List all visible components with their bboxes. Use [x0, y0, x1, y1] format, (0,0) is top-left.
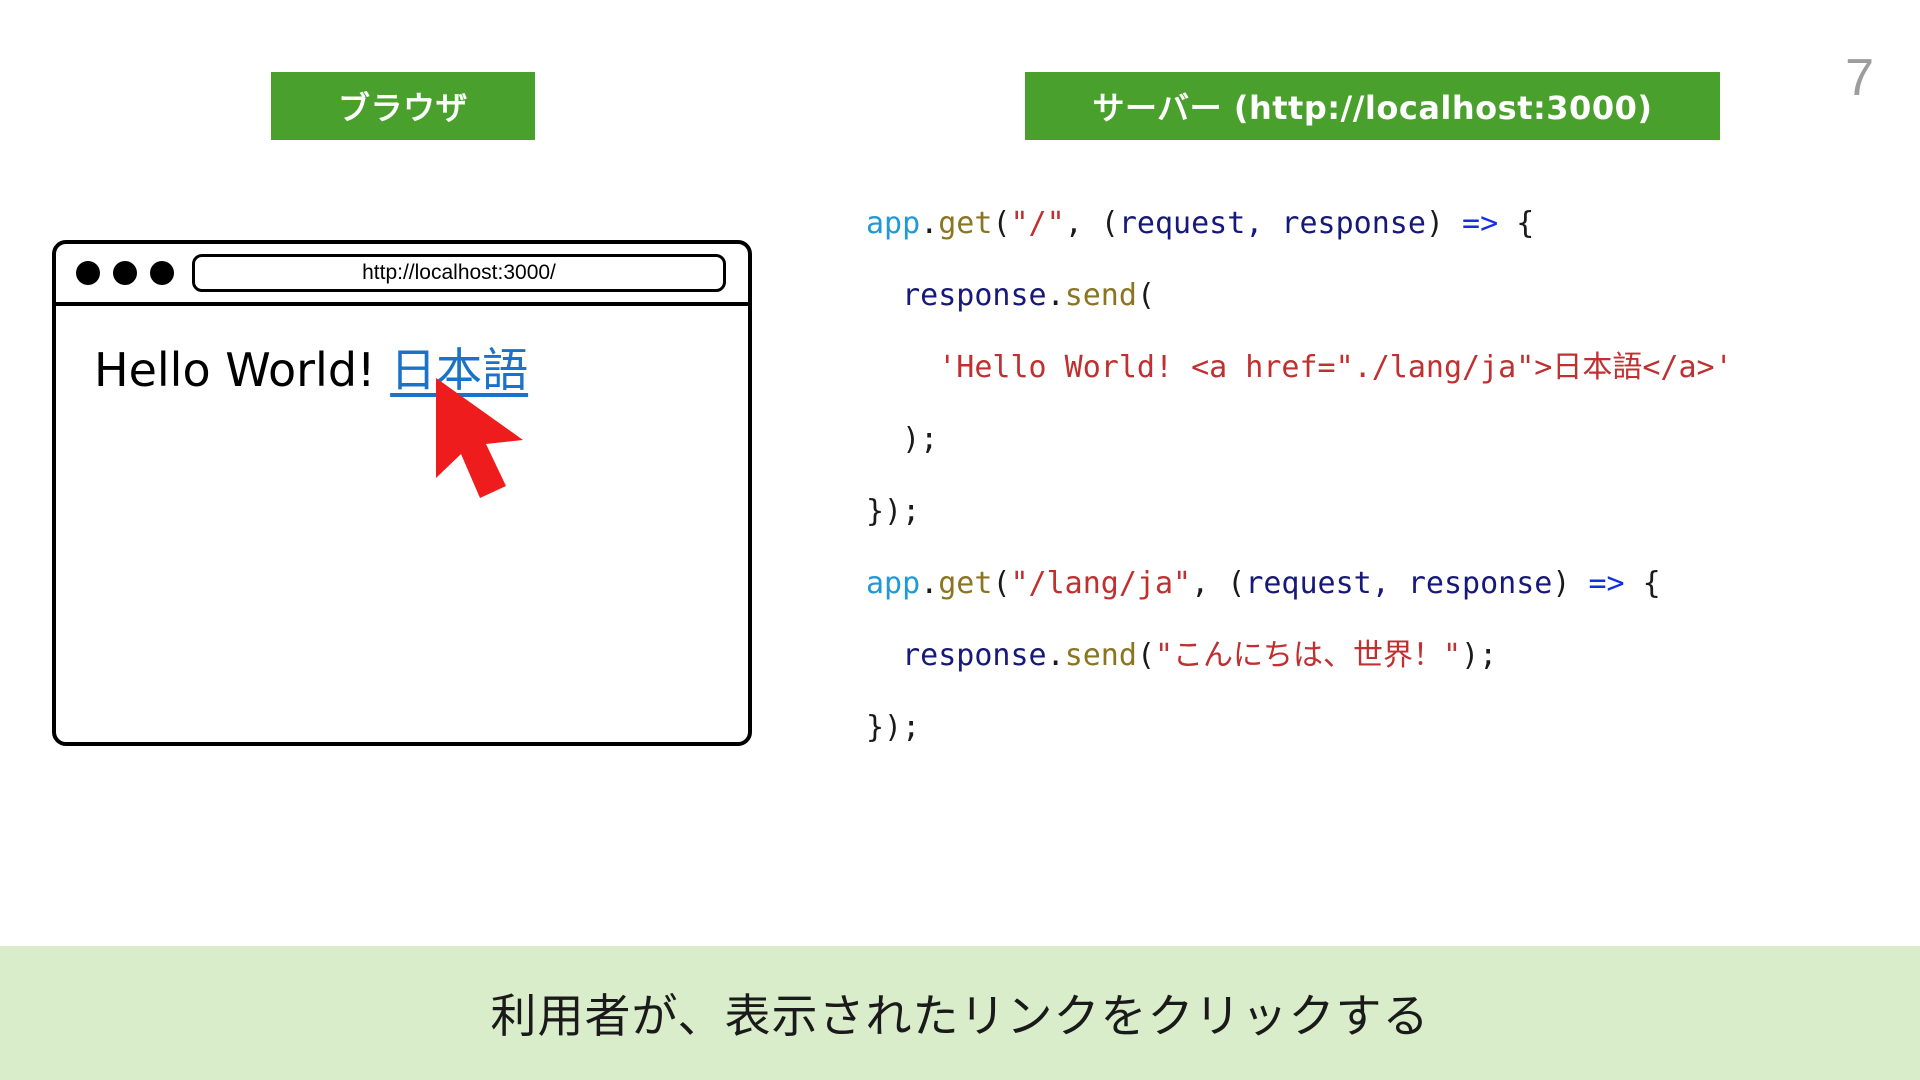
address-bar-value: http://localhost:3000/ — [362, 261, 556, 285]
page-greeting-text: Hello World! — [94, 343, 390, 397]
code-token: app — [866, 566, 920, 601]
browser-chrome: http://localhost:3000/ — [56, 244, 748, 306]
code-token — [866, 278, 902, 313]
code-token: }); — [866, 710, 920, 745]
browser-viewport: Hello World! 日本語 — [56, 306, 748, 742]
badge-server: サーバー (http://localhost:3000) — [1025, 72, 1720, 140]
code-line: }); — [866, 476, 1733, 548]
code-token: get — [938, 566, 992, 601]
code-token: ( — [1137, 278, 1155, 313]
code-line: }); — [866, 692, 1733, 764]
code-token: ); — [866, 422, 938, 457]
code-token: . — [1047, 278, 1065, 313]
code-token: ); — [1461, 638, 1497, 673]
code-token: , ( — [1065, 206, 1119, 241]
code-token: 'Hello World! <a href="./lang/ja">日本語</a… — [938, 350, 1732, 385]
code-token — [866, 638, 902, 673]
code-token: send — [1065, 278, 1137, 313]
caption-band: 利用者が、表示されたリンクをクリックする — [0, 946, 1920, 1080]
code-line: app.get("/", (request, response) => { — [866, 188, 1733, 260]
address-bar[interactable]: http://localhost:3000/ — [192, 254, 726, 292]
code-token: => — [1462, 206, 1498, 241]
code-token: . — [920, 566, 938, 601]
slide-number: 7 — [1845, 52, 1874, 104]
badge-server-label: サーバー (http://localhost:3000) — [1093, 83, 1653, 129]
page-language-link[interactable]: 日本語 — [390, 343, 528, 397]
code-token: get — [938, 206, 992, 241]
code-token: . — [1047, 638, 1065, 673]
code-token: , ( — [1191, 566, 1245, 601]
maximize-dot-icon[interactable] — [150, 261, 174, 285]
browser-window-mockup: http://localhost:3000/ Hello World! 日本語 — [52, 240, 752, 746]
code-token: . — [920, 206, 938, 241]
code-token: ( — [1137, 638, 1155, 673]
code-token: { — [1498, 206, 1534, 241]
code-line: response.send( — [866, 260, 1733, 332]
code-token: => — [1588, 566, 1624, 601]
code-token: response — [902, 278, 1047, 313]
minimize-dot-icon[interactable] — [113, 261, 137, 285]
code-token: { — [1625, 566, 1661, 601]
code-token: ( — [992, 206, 1010, 241]
code-token: ) — [1426, 206, 1462, 241]
server-code-block: app.get("/", (request, response) => { re… — [866, 188, 1733, 764]
code-token — [866, 350, 938, 385]
code-token: "/" — [1011, 206, 1065, 241]
code-token: request, response — [1245, 566, 1552, 601]
badge-browser-label: ブラウザ — [338, 83, 468, 129]
rendered-page-content: Hello World! 日本語 — [94, 344, 748, 397]
code-line: ); — [866, 404, 1733, 476]
code-token: send — [1065, 638, 1137, 673]
badge-browser: ブラウザ — [271, 72, 535, 140]
code-token: app — [866, 206, 920, 241]
code-line: app.get("/lang/ja", (request, response) … — [866, 548, 1733, 620]
code-token: }); — [866, 494, 920, 529]
code-token: ) — [1552, 566, 1588, 601]
code-token: request, response — [1119, 206, 1426, 241]
code-token: "/lang/ja" — [1011, 566, 1192, 601]
caption-text: 利用者が、表示されたリンクをクリックする — [490, 980, 1429, 1046]
code-token: response — [902, 638, 1047, 673]
code-line: 'Hello World! <a href="./lang/ja">日本語</a… — [866, 332, 1733, 404]
code-token: "こんにちは、世界！" — [1155, 638, 1461, 673]
code-token: ( — [992, 566, 1010, 601]
traffic-light-dots — [76, 261, 174, 285]
close-dot-icon[interactable] — [76, 261, 100, 285]
code-line: response.send("こんにちは、世界！"); — [866, 620, 1733, 692]
